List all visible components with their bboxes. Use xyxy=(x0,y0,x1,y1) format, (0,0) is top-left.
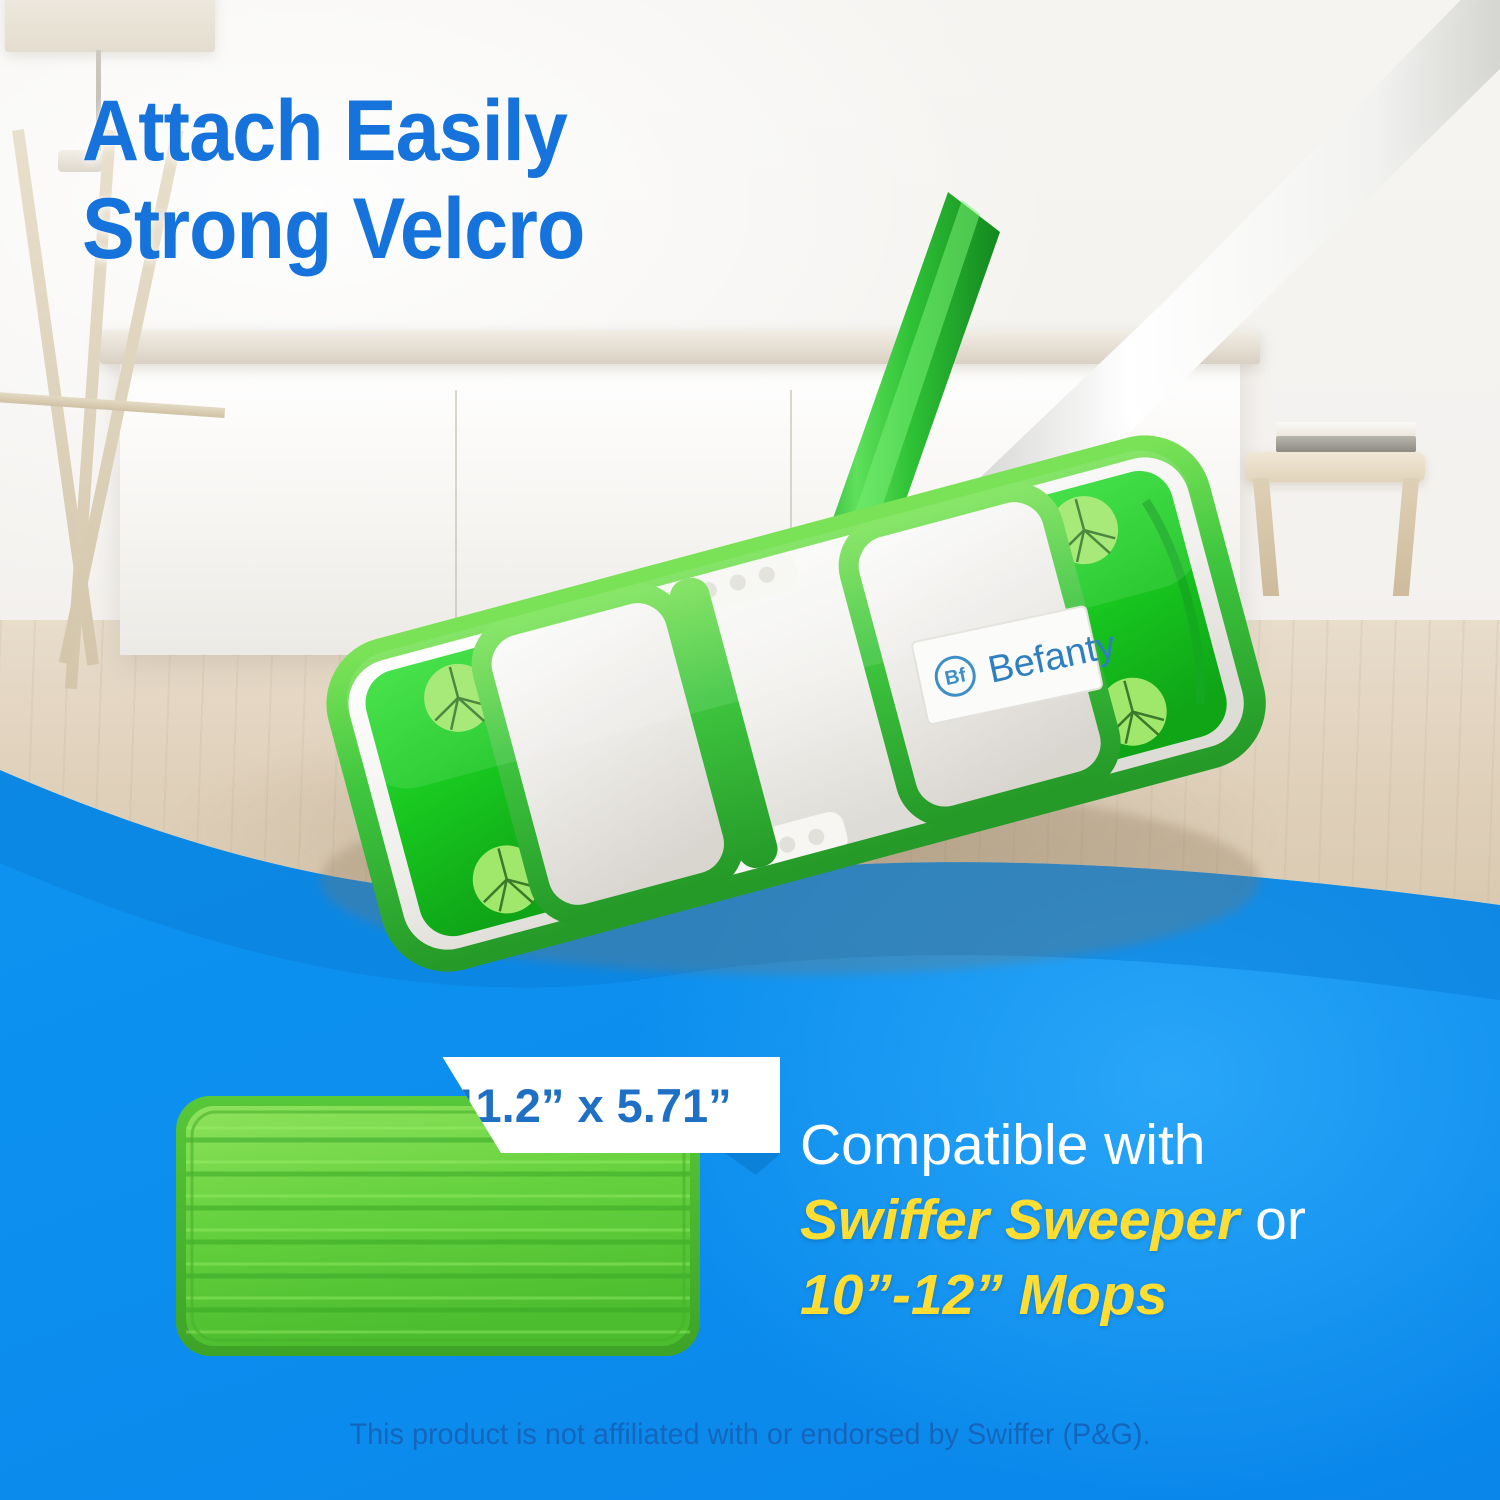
headline-line-2: Strong Velcro xyxy=(82,180,836,278)
compat-line-1: Compatible with xyxy=(800,1108,1420,1183)
marketing-image: Bf Befanty Attach Easily Strong Velcro xyxy=(0,0,1500,1500)
compat-line-3: 10”-12” Mops xyxy=(800,1258,1420,1333)
compatibility-block: Compatible with Swiffer Sweeper or 10”-1… xyxy=(800,1108,1420,1334)
size-badge-label: 11.2” x 5.71” xyxy=(452,1078,732,1133)
headline: Attach Easily Strong Velcro xyxy=(82,82,836,278)
compat-line-2-tail: or xyxy=(1239,1188,1306,1252)
compat-highlight-mops: 10”-12” Mops xyxy=(800,1263,1167,1327)
compat-line-2: Swiffer Sweeper or xyxy=(800,1183,1420,1258)
disclaimer-text: This product is not affiliated with or e… xyxy=(30,1418,1470,1452)
headline-line-1: Attach Easily xyxy=(82,82,836,180)
compat-highlight-swiffer: Swiffer Sweeper xyxy=(800,1188,1239,1252)
